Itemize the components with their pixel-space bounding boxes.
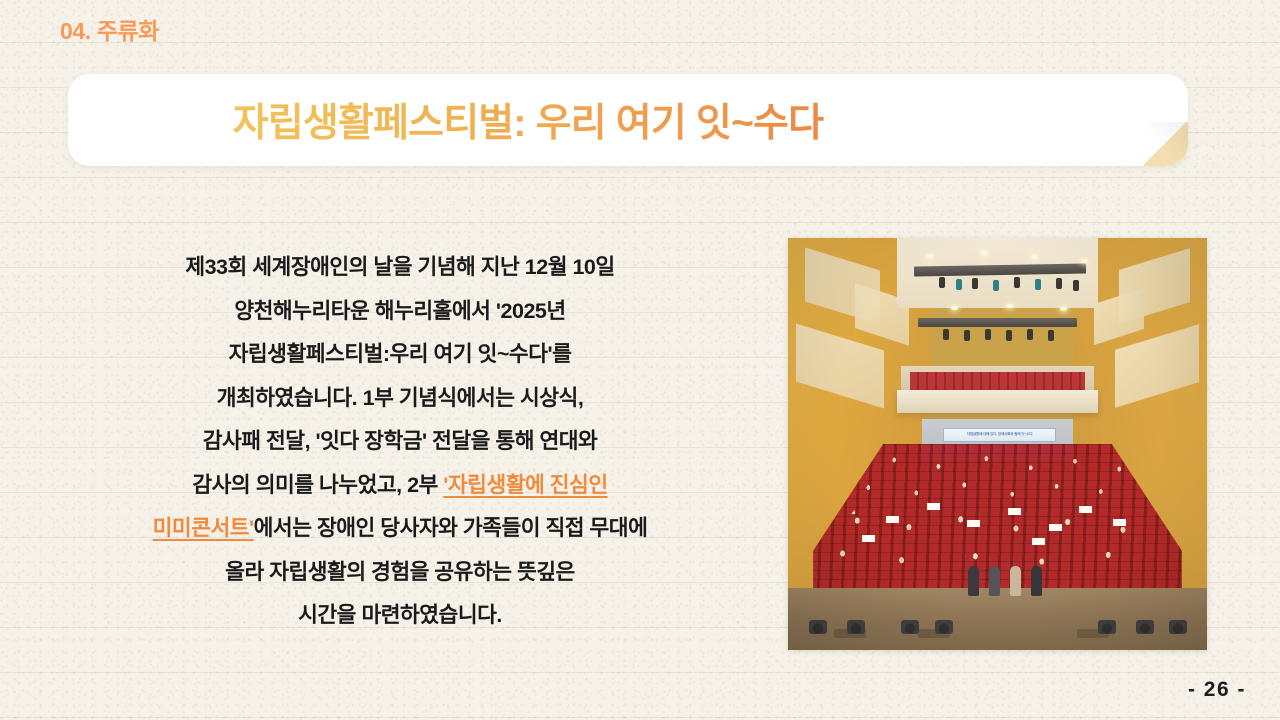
ceiling-downlight-icon [981,251,988,255]
balcony-front-edge [897,390,1098,413]
audience-placards [822,493,1174,567]
front-row-attendee [989,566,1000,596]
event-photo: 자립생활에 대해 있다, 장애사회와 함께 잇~수다 [788,238,1207,650]
body-line-7-suffix: 에서는 장애인 당사자와 가족들이 직접 무대에 [254,516,648,540]
concert-link-part-1[interactable]: '자립생활에 진심인 [443,473,607,497]
ceiling-downlight-icon [1060,307,1067,311]
body-line-7: 미미콘서트'에서는 장애인 당사자와 가족들이 직접 무대에 [50,507,750,551]
body-text-block: 제33회 세계장애인의 날을 기념해 지난 12월 10일 양천해누리타운 해누… [50,246,750,638]
lighting-truss [918,318,1077,327]
front-row-attendee [1010,566,1021,596]
page-number: - 26 - [1188,678,1246,702]
page-title: 자립생활페스티벌: 우리 여기 잇~수다 [68,92,1188,148]
stage-light-icon [1056,278,1062,289]
wheelchair-icon [1136,620,1154,634]
wheelchair-icon [935,620,953,634]
front-row-attendee [968,566,979,596]
ceiling-downlight-icon [1081,259,1088,263]
stage-light-icon [985,329,991,340]
stage-light-icon [972,278,978,289]
concert-link-part-2[interactable]: 미미콘서트' [153,516,254,540]
page-fold-corner-icon [1144,122,1188,166]
body-line-8: 올라 자립생활의 경험을 공유하는 뜻깊은 [50,551,750,595]
wheelchair-icon [1098,620,1116,634]
title-card: 자립생활페스티벌: 우리 여기 잇~수다 [68,74,1188,166]
ceiling-downlight-icon [1006,304,1013,308]
photo-content: 자립생활에 대해 있다, 장애사회와 함께 잇~수다 [788,238,1207,650]
wheelchair-icon [901,620,919,634]
body-line-6: 감사의 의미를 나누었고, 2부 '자립생활에 진심인 [50,464,750,508]
slide-canvas: 04. 주류화 자립생활페스티벌: 우리 여기 잇~수다 제33회 세계장애인의… [0,0,1280,720]
ceiling-downlight-icon [951,306,958,310]
body-line-2: 양천해누리타운 해누리홀에서 '2025년 [50,290,750,334]
body-line-1: 제33회 세계장애인의 날을 기념해 지난 12월 10일 [50,246,750,290]
stage-light-icon [1073,280,1079,291]
stage-light-icon [943,329,949,340]
stage-light-icon [939,277,945,288]
wheelchair-icon [1169,620,1187,634]
wheelchair-icon [809,620,827,634]
section-label: 04. 주류화 [60,12,159,46]
front-row-attendee [1031,566,1042,596]
body-line-4: 개최하였습니다. 1부 기념식에서는 시상식, [50,377,750,421]
wheelchair-icon [847,620,865,634]
body-line-3: 자립생활페스티벌:우리 여기 잇~수다'를 [50,333,750,377]
body-line-6-prefix: 감사의 의미를 나누었고, 2부 [192,473,443,497]
stage-light-icon [1027,329,1033,340]
stage-banner: 자립생활에 대해 있다, 장애사회와 함께 잇~수다 [943,428,1056,441]
stage-light-icon [1006,330,1012,341]
body-line-9: 시간을 마련하였습니다. [50,594,750,638]
balcony-seating [910,372,1086,391]
stage-light-icon [956,279,962,290]
stage-light-icon [1014,277,1020,288]
stage-light-icon [1035,279,1041,290]
stage-light-icon [993,280,999,291]
body-line-5: 감사패 전달, '잇다 장학금' 전달을 통해 연대와 [50,420,750,464]
stage-light-icon [964,330,970,341]
ceiling-downlight-icon [1031,255,1038,259]
stage-light-icon [1048,330,1054,341]
